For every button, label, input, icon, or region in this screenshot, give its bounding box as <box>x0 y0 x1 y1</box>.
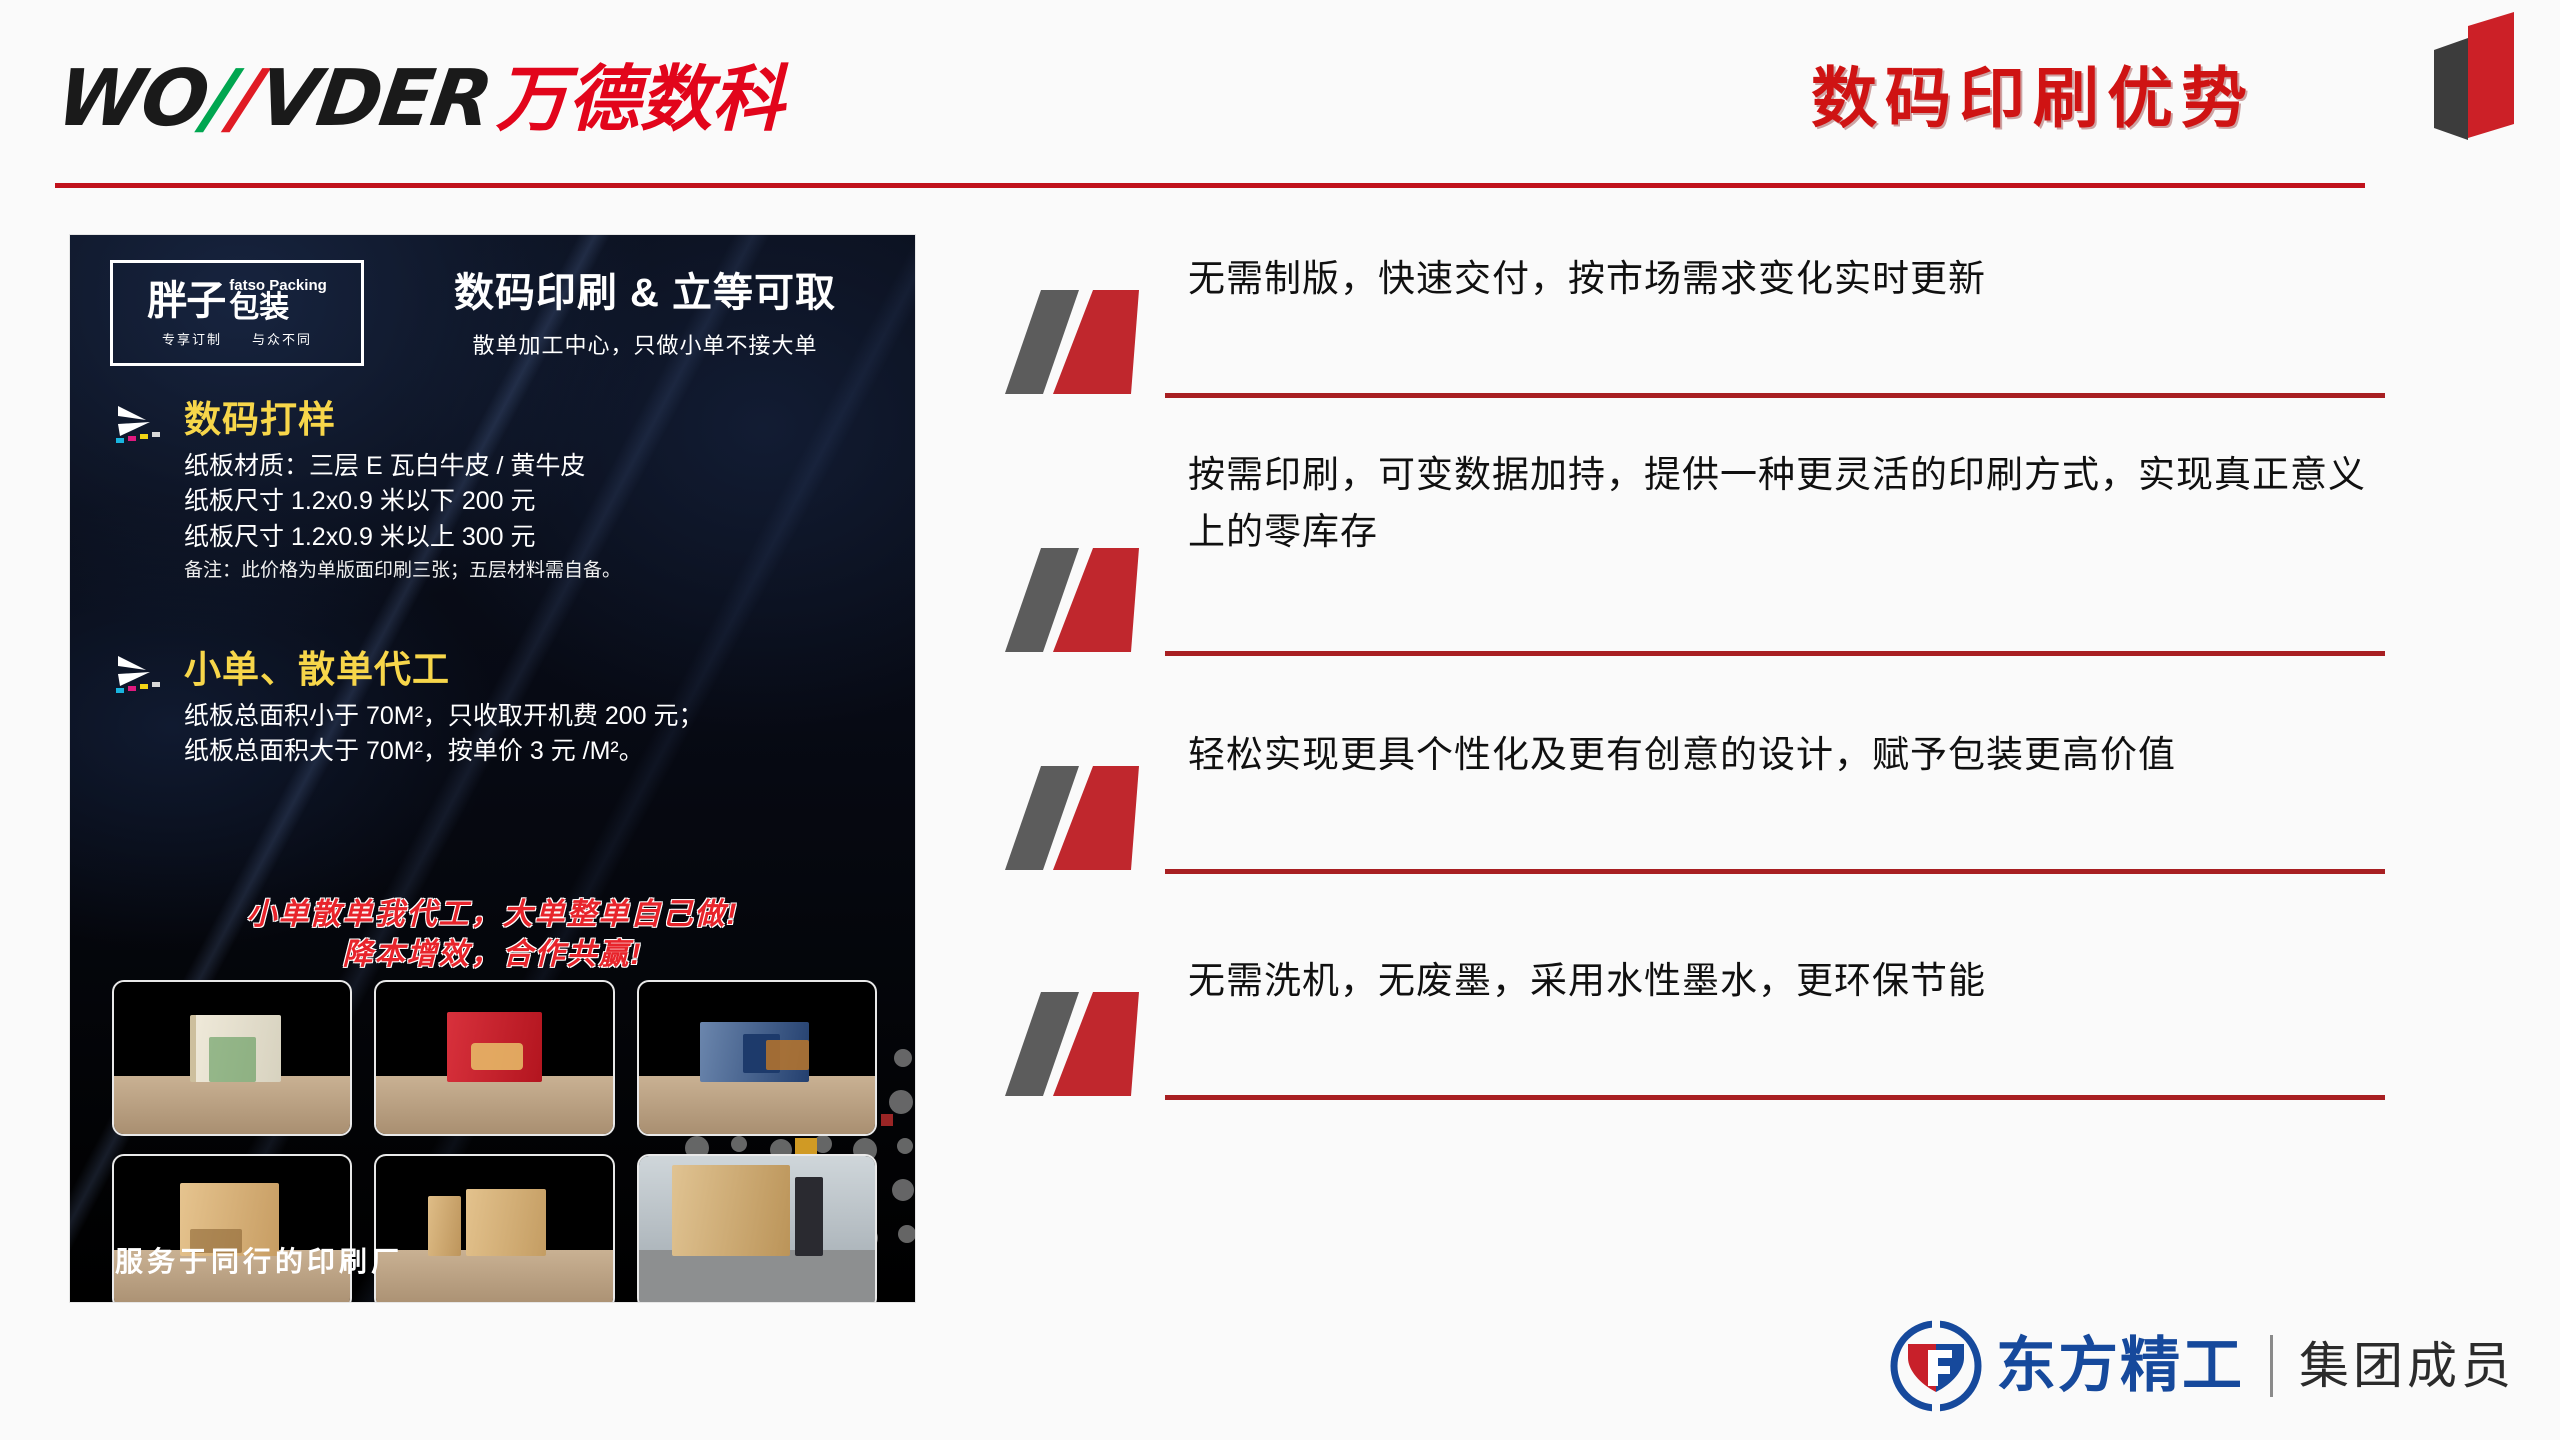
arrow-chevron-icon <box>112 404 174 448</box>
arrow-chevron-icon <box>112 654 174 698</box>
brand-logo-cn: 万德数科 <box>496 63 784 135</box>
advantage-text-3: 轻松实现更具个性化及更有创意的设计，赋予包装更高价值 <box>1188 726 2385 797</box>
poster-photo-1 <box>112 980 352 1136</box>
advantage-item-4: 无需洗机，无废墨，采用水性墨水，更环保节能 <box>1005 952 2385 1100</box>
poster-section-1-line-1: 纸板材质：三层 E 瓦白牛皮 / 黄牛皮 <box>184 449 882 485</box>
poster-slogan-line-1: 小单散单我代工，大单整单自己做! <box>70 895 915 935</box>
poster-photo-3 <box>637 980 877 1136</box>
poster-section-1-line-3: 纸板尺寸 1.2x0.9 米以上 300 元 <box>184 520 882 556</box>
brand-logo-wonder-tail: VDER <box>253 54 496 144</box>
advantage-underline-2 <box>1165 651 2385 656</box>
double-slash-marker-icon <box>1005 766 1165 874</box>
poster-section-2-line-1: 纸板总面积小于 70M²，只收取开机费 200 元； <box>184 699 882 735</box>
brand-logo: WO//VDER 万德数科 <box>58 60 784 138</box>
poster-section-1-line-2: 纸板尺寸 1.2x0.9 米以下 200 元 <box>184 484 882 520</box>
poster-section-2-title: 小单、散单代工 <box>184 650 882 691</box>
poster-footer-text: 服务于同行的印刷厂 <box>115 1240 403 1280</box>
page-title: 数码印刷优势 <box>1811 45 2255 141</box>
poster-section-2: 小单、散单代工 纸板总面积小于 70M²，只收取开机费 200 元； 纸板总面积… <box>112 650 882 770</box>
poster-brand-cn-small: 包装 <box>229 293 327 323</box>
poster-section-2-line-2: 纸板总面积大于 70M²，按单价 3 元 /M²。 <box>184 734 882 770</box>
poster-subheadline: 散单加工中心，只做小单不接大单 <box>405 328 885 360</box>
poster-section-1-note: 备注：此价格为单版面印刷三张；五层材料需自备。 <box>184 557 882 586</box>
advantage-underline-3 <box>1165 869 2385 874</box>
poster-brand-tag-right: 与众不同 <box>252 329 312 348</box>
footer-logo-name: 东方精工 <box>1996 1336 2244 1396</box>
promo-poster: 胖子 fatso Packing 包装 专享订制 与众不同 数码印刷 & 立等可… <box>70 235 915 1302</box>
advantage-text-2: 按需印刷，可变数据加持，提供一种更灵活的印刷方式，实现真正意义上的零库存 <box>1188 446 2385 575</box>
brand-logo-wordmark: WO//VDER <box>53 60 496 138</box>
advantages-list: 无需制版，快速交付，按市场需求变化实时更新 按需印刷，可变数据加持，提供一种更灵… <box>1005 250 2385 1128</box>
footer-logo-separator <box>2270 1335 2273 1397</box>
poster-slogan-line-2: 降本增效，合作共赢! <box>70 935 915 975</box>
page-header: WO//VDER 万德数科 数码印刷优势 <box>0 0 2560 190</box>
poster-headline: 数码印刷 & 立等可取 <box>405 260 885 318</box>
footer-logo: 东方精工 集团成员 <box>1890 1320 2515 1412</box>
advantage-text-4: 无需洗机，无废墨，采用水性墨水，更环保节能 <box>1188 952 2385 1023</box>
double-slash-marker-icon <box>1005 548 1165 656</box>
poster-photo-2 <box>374 980 614 1136</box>
poster-brand-cn-big: 胖子 <box>147 281 225 321</box>
poster-brand-logo: 胖子 fatso Packing 包装 专享订制 与众不同 <box>110 260 364 366</box>
advantage-underline-1 <box>1165 393 2385 398</box>
double-slash-marker-icon <box>1005 290 1165 398</box>
header-divider <box>55 183 2365 188</box>
advantage-text-1: 无需制版，快速交付，按市场需求变化实时更新 <box>1188 250 2385 321</box>
poster-photo-5 <box>374 1154 614 1302</box>
double-slash-marker-icon <box>1005 992 1165 1100</box>
poster-brand-tag-left: 专享订制 <box>162 329 222 348</box>
poster-section-1-title: 数码打样 <box>184 400 882 441</box>
poster-slogan: 小单散单我代工，大单整单自己做! 降本增效，合作共赢! <box>70 895 915 974</box>
corner-parallelogram-icon <box>2410 8 2530 158</box>
brand-logo-wonder-text: WO <box>52 54 213 144</box>
poster-photo-6 <box>637 1154 877 1302</box>
poster-headline-block: 数码印刷 & 立等可取 散单加工中心，只做小单不接大单 <box>405 260 885 360</box>
advantage-item-1: 无需制版，快速交付，按市场需求变化实时更新 <box>1005 250 2385 398</box>
footer-logo-subtitle: 集团成员 <box>2299 1341 2515 1391</box>
poster-section-1: 数码打样 纸板材质：三层 E 瓦白牛皮 / 黄牛皮 纸板尺寸 1.2x0.9 米… <box>112 400 882 586</box>
shield-emblem-icon <box>1890 1320 1982 1412</box>
advantage-underline-4 <box>1165 1095 2385 1100</box>
advantage-item-2: 按需印刷，可变数据加持，提供一种更灵活的印刷方式，实现真正意义上的零库存 <box>1005 446 2385 656</box>
advantage-item-3: 轻松实现更具个性化及更有创意的设计，赋予包装更高价值 <box>1005 726 2385 874</box>
